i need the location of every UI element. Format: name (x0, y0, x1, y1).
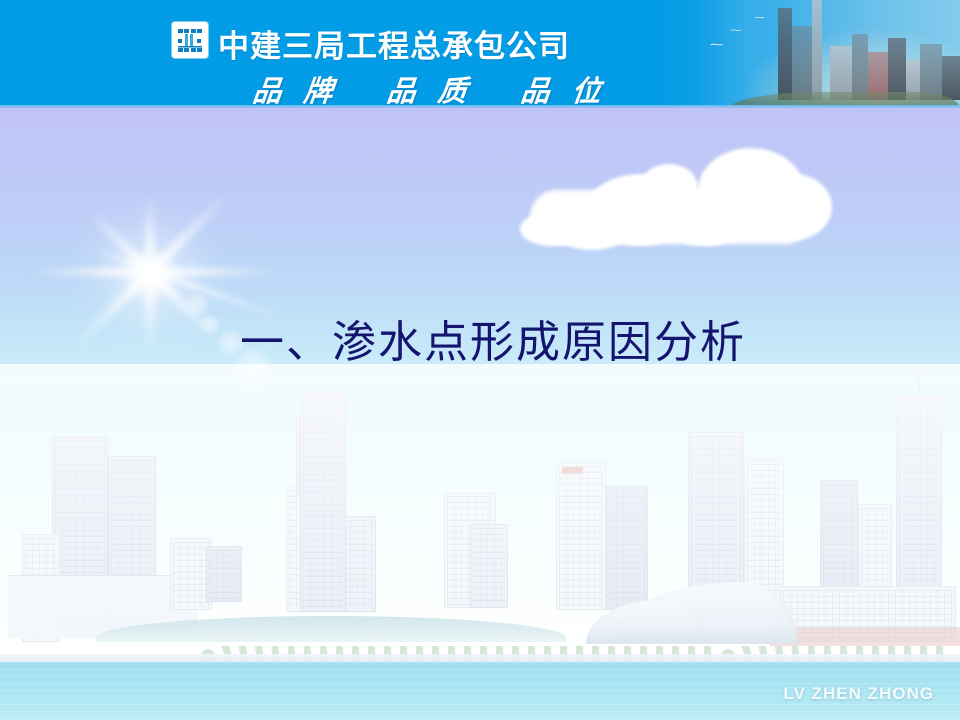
slide-header-bar: ∼ ∼ ∼ 中建三局工程总承包公司 (0, 0, 960, 108)
company-name-text: 中建三局工程总承包公司 (218, 21, 570, 66)
birds-icon-2: ∼ (729, 26, 743, 35)
page-title: 一、渗水点形成原因分析 (240, 315, 740, 370)
company-building-logo-icon (172, 22, 208, 58)
birds-icon: ∼ (708, 40, 725, 51)
presentation-slide: ∼ ∼ ∼ 中建三局工程总承包公司 (0, 0, 960, 720)
birds-icon-3: ∼ (753, 14, 765, 22)
header-divider (0, 105, 960, 108)
header-skyline-photo: ∼ ∼ ∼ (660, 0, 960, 108)
slide-background-sky (0, 108, 960, 720)
company-slogan-text: 品牌 品质 品位 (251, 68, 626, 108)
watermark-text: LV ZHEN ZHONG (783, 684, 934, 704)
